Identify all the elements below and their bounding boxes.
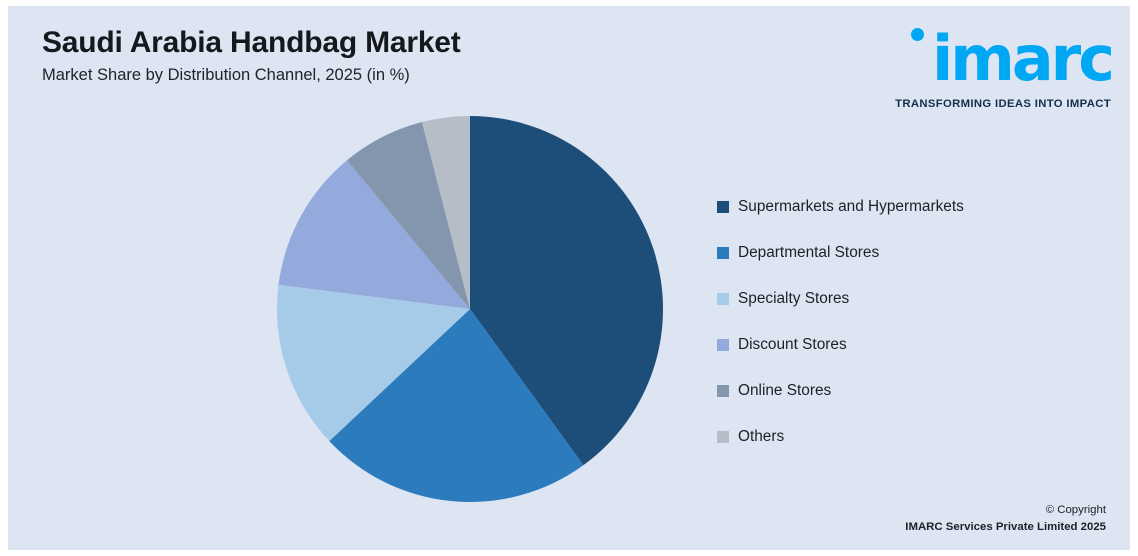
legend-swatch-icon [717, 247, 729, 259]
legend-swatch-icon [717, 385, 729, 397]
pie-chart [277, 116, 663, 502]
legend-swatch-icon [717, 201, 729, 213]
infographic-root: Saudi Arabia Handbag Market Market Share… [0, 0, 1138, 556]
logo-wordmark: imarc [932, 28, 1112, 90]
page-title: Saudi Arabia Handbag Market [42, 26, 461, 60]
footer: © Copyright IMARC Services Private Limit… [905, 502, 1106, 536]
chart-canvas: Saudi Arabia Handbag Market Market Share… [8, 6, 1130, 550]
legend-item-label: Others [738, 428, 784, 446]
company-text: IMARC Services Private Limited 2025 [905, 519, 1106, 536]
legend-item[interactable]: Discount Stores [717, 322, 1107, 368]
legend-swatch-icon [717, 431, 729, 443]
legend-item-label: Departmental Stores [738, 244, 879, 262]
legend-item-label: Discount Stores [738, 336, 847, 354]
chart-legend: Supermarkets and HypermarketsDepartmenta… [717, 184, 1107, 460]
legend-item-label: Specialty Stores [738, 290, 849, 308]
legend-item[interactable]: Online Stores [717, 368, 1107, 414]
legend-item[interactable]: Specialty Stores [717, 276, 1107, 322]
page-subtitle: Market Share by Distribution Channel, 20… [42, 66, 410, 85]
legend-item[interactable]: Others [717, 414, 1107, 460]
legend-swatch-icon [717, 293, 729, 305]
legend-swatch-icon [717, 339, 729, 351]
pie-chart-svg [277, 116, 663, 502]
legend-item-label: Online Stores [738, 382, 831, 400]
logo-tagline: TRANSFORMING IDEAS INTO IMPACT [895, 98, 1111, 110]
imarc-logo: imarc TRANSFORMING IDEAS INTO IMPACT [888, 20, 1112, 112]
legend-item[interactable]: Supermarkets and Hypermarkets [717, 184, 1107, 230]
legend-item[interactable]: Departmental Stores [717, 230, 1107, 276]
logo-dot-icon [911, 28, 924, 41]
legend-item-label: Supermarkets and Hypermarkets [738, 198, 964, 216]
copyright-text: © Copyright [905, 502, 1106, 519]
